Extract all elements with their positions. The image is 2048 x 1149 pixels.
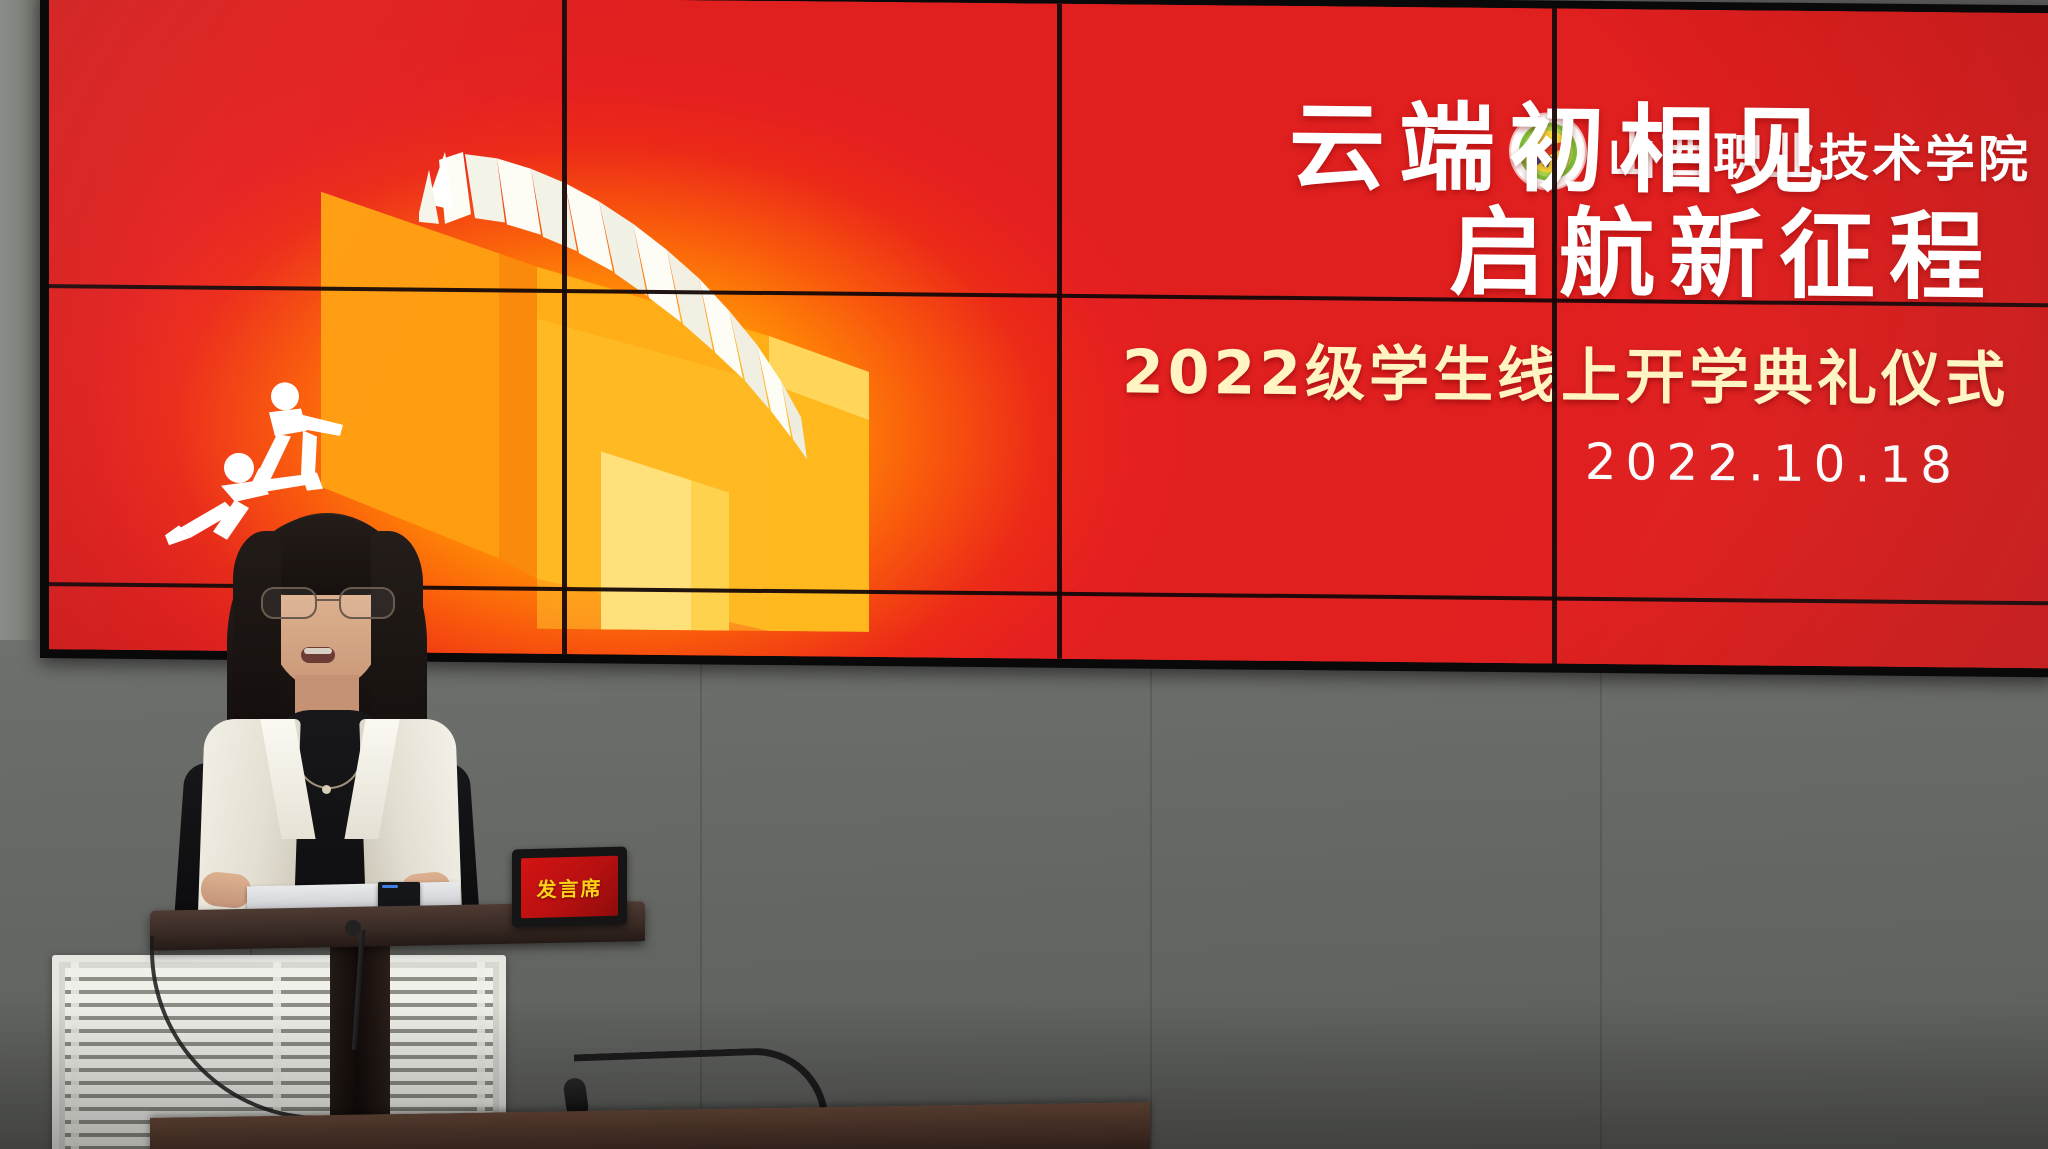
eyeglasses-icon	[259, 587, 395, 617]
panel-seam-vertical-3	[1552, 9, 1557, 664]
nameplate-text: 发言席	[537, 872, 603, 903]
running-child-silhouette-right	[243, 378, 373, 512]
panel-seam-vertical-1	[562, 0, 567, 654]
nameplate-screen: 发言席	[521, 856, 618, 919]
podium-microphone-head	[345, 920, 361, 936]
wireless-clicker	[378, 882, 420, 908]
clicker-led-indicator	[382, 885, 398, 888]
photo-scene: 山西职业技术学院 云端初相见 启航新征程 2022级学生线上开学典礼仪式 202…	[0, 0, 2048, 1149]
panel-seam-vertical-2	[1057, 4, 1062, 659]
necklace-pendant	[322, 785, 331, 794]
podium-nameplate: 发言席	[512, 846, 627, 927]
female-speaker-at-podium	[175, 495, 475, 935]
speaker-teeth	[304, 648, 332, 654]
slide-subtitle: 2022级学生线上开学典礼仪式	[689, 320, 2009, 420]
headline-line-1: 云端初相见	[689, 90, 2009, 206]
